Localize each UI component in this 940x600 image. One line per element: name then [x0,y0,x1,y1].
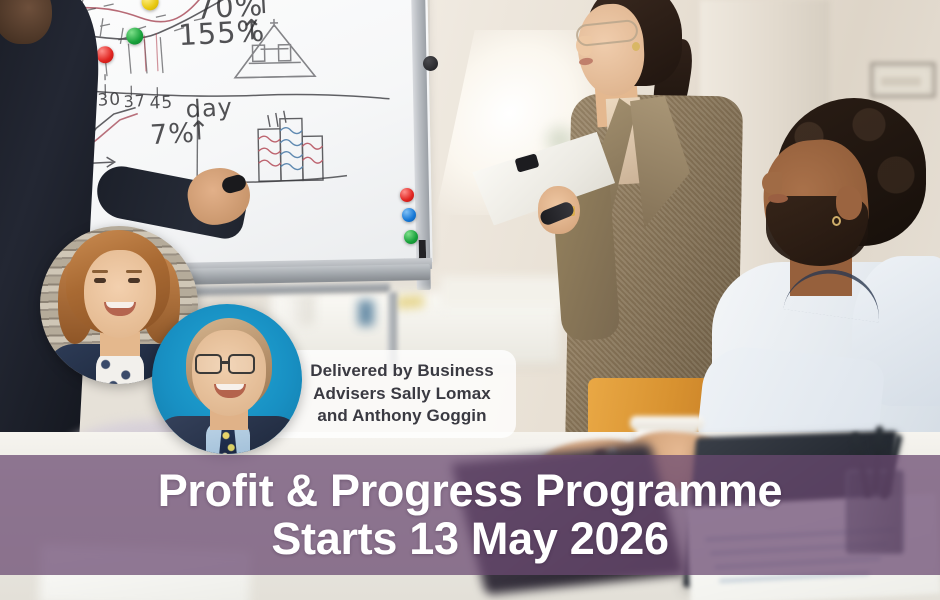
title-banner: Profit & Progress Programme Starts 13 Ma… [0,455,940,575]
avatar-sally-face [84,250,156,338]
sticky-note-yellow [396,295,425,309]
seated-man-nose [762,172,782,194]
avatar-sally-brow-left [92,270,108,273]
banner-title-line2: Starts 13 May 2026 [271,515,668,563]
whiteboard-arrow-up-2: ↑ [239,13,265,47]
avatar-anthony-glasses-right [228,354,255,374]
folder-blue [358,300,374,326]
avatar-anthony-teeth [216,384,244,390]
seated-man-lips [768,194,788,203]
whiteboard-axis-37: 37 [123,91,146,111]
whiteboard-knob [423,56,438,71]
avatar-sally-eye-left [94,278,106,283]
avatar-sally-brow-right [126,270,142,273]
frame-magnet-blue [402,208,416,222]
whiteboard-annotation-day: day [185,93,234,124]
frame-magnet-red [400,188,414,202]
banner-title-line1: Profit & Progress Programme [158,467,783,515]
seated-man-ear [836,186,862,220]
seated-man-earring [832,216,841,226]
coffee-cup-lid [630,416,704,430]
avatar-anthony-goggin [152,304,302,454]
whiteboard-axis-30: 30 [97,89,122,110]
frame-magnet-green [404,230,418,244]
avatar-sally-eye-right [128,278,140,283]
wall-switch-plate [870,62,936,98]
whiteboard-axis-45: 45 [149,92,174,113]
standing-woman-earring [632,42,640,51]
promo-card: 70% ↑ 155% ↑ 7% ↑ day 15 30 37 45 [0,0,940,600]
avatar-sally-teeth [106,302,134,308]
avatar-anthony-glasses-bridge [222,361,230,364]
avatar-anthony-glasses-left [195,354,222,374]
